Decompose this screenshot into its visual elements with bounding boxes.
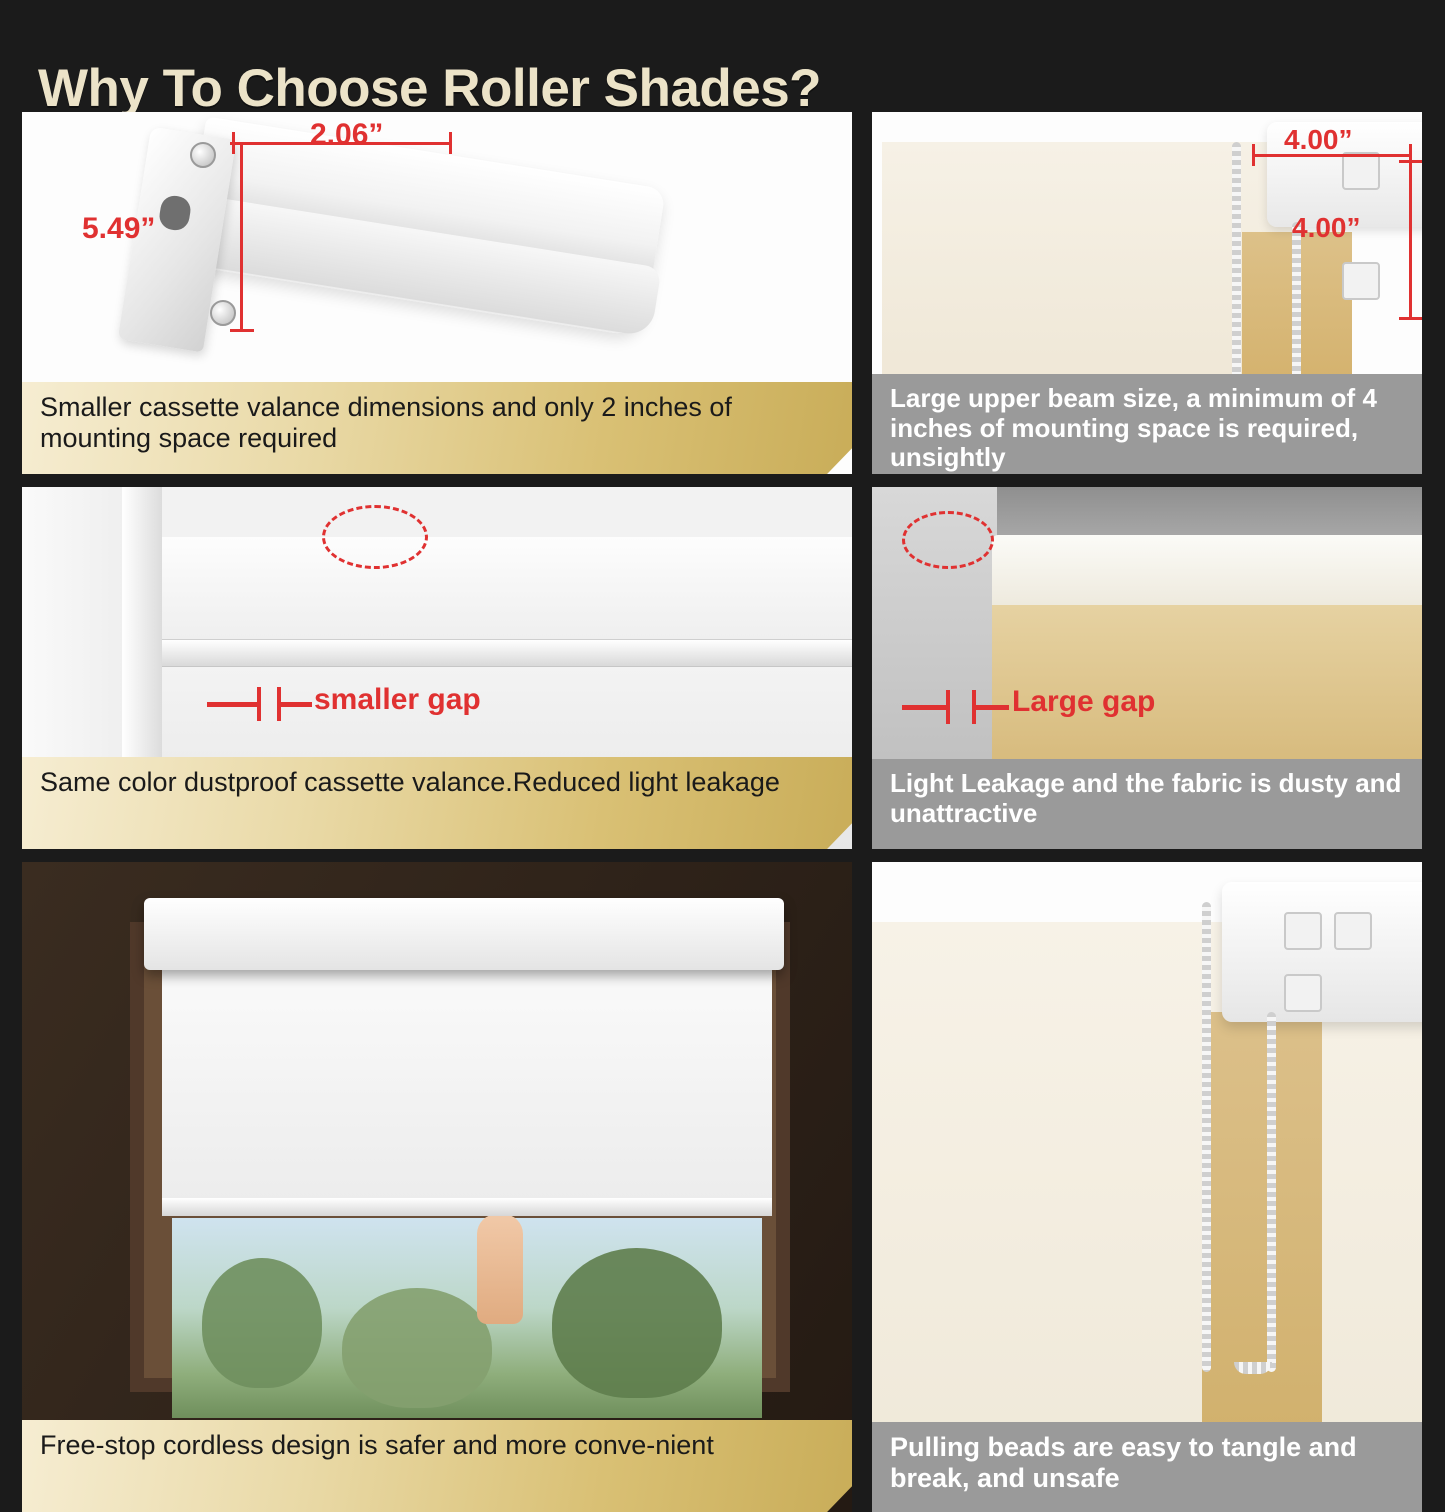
panel-6: Pulling beads are easy to tangle and bre… [872, 862, 1422, 1512]
screw-top-icon [190, 142, 216, 168]
gap-arrow-left [207, 702, 259, 707]
gap-tick-1 [946, 690, 950, 724]
gap-callout-label: Large gap [1012, 685, 1155, 719]
infographic-page: Why To Choose Roller Shades? 2.06” [0, 0, 1445, 1445]
tree-2-icon [342, 1288, 492, 1408]
cassette-valance [144, 898, 784, 970]
width-dim-tick-right [449, 132, 452, 154]
shade-fabric [162, 966, 772, 1206]
beam-depth-tick-top [1399, 160, 1422, 163]
cassette-rail [162, 639, 852, 667]
gap-highlight-circle [322, 505, 428, 569]
beam-depth-tick-bottom [1399, 317, 1422, 320]
panel-4-caption: Light Leakage and the fabric is dusty an… [872, 759, 1422, 849]
hand [477, 1214, 523, 1324]
panel-5: Free-stop cordless design is safer and m… [22, 862, 852, 1512]
gap-tick-1 [257, 687, 261, 721]
bottom-rail [162, 1198, 772, 1216]
screw-bottom-icon [210, 300, 236, 326]
bracket-square-3 [1284, 974, 1322, 1012]
gap-highlight-circle [902, 511, 994, 569]
height-dimension-label: 5.49” [82, 212, 155, 246]
bracket-square-2 [1334, 912, 1372, 950]
gap-arrow-right [975, 705, 1009, 710]
tree-1-icon [202, 1258, 322, 1388]
panel-5-caption: Free-stop cordless design is safer and m… [22, 1420, 852, 1512]
bracket-square-2 [1342, 262, 1380, 300]
panel-5-photo [22, 862, 852, 1512]
width-dimension-label: 2.06” [310, 118, 383, 152]
beam-width-label: 4.00” [1284, 124, 1353, 156]
gap-arrow-right [280, 702, 312, 707]
gap-callout-label: smaller gap [314, 683, 481, 717]
height-dim-tick-bottom [230, 329, 254, 332]
height-dim-tick-top [230, 142, 254, 145]
bead-chain-loop [1234, 1362, 1272, 1374]
gap-arrow-left [902, 705, 948, 710]
panel-6-caption: Pulling beads are easy to tangle and bre… [872, 1422, 1422, 1512]
bead-chain-left [1202, 902, 1211, 1372]
beam-depth-dim-line [1409, 160, 1412, 320]
beam-width-tick-left [1252, 144, 1255, 166]
beam-depth-label: 4.00” [1292, 212, 1361, 244]
panel-1-caption: Smaller cassette valance dimensions and … [22, 382, 852, 474]
panel-3-caption: Same color dustproof cassette valance.Re… [22, 757, 852, 849]
page-title: Why To Choose Roller Shades? [38, 58, 821, 119]
bracket-square-1 [1342, 152, 1380, 190]
panel-2: 4.00” 4.00” Large upper beam size, a min… [872, 112, 1422, 474]
panel-1: 2.06” 5.49” Smaller cassette valance dim… [22, 112, 852, 474]
tree-3-icon [552, 1248, 722, 1398]
bead-chain-right [1267, 1012, 1276, 1372]
roller-head-unit [1222, 882, 1422, 1022]
panel-4: Large gap Light Leakage and the fabric i… [872, 487, 1422, 849]
panel-3: smaller gap Same color dustproof cassett… [22, 487, 852, 849]
panel-2-caption: Large upper beam size, a minimum of 4 in… [872, 374, 1422, 474]
bracket-square-1 [1284, 912, 1322, 950]
window-glass [172, 1218, 762, 1418]
bead-chain-left [1232, 142, 1241, 402]
shade-upper-fabric [992, 535, 1422, 605]
height-dim-line [240, 142, 243, 332]
panel-6-photo [872, 862, 1422, 1512]
